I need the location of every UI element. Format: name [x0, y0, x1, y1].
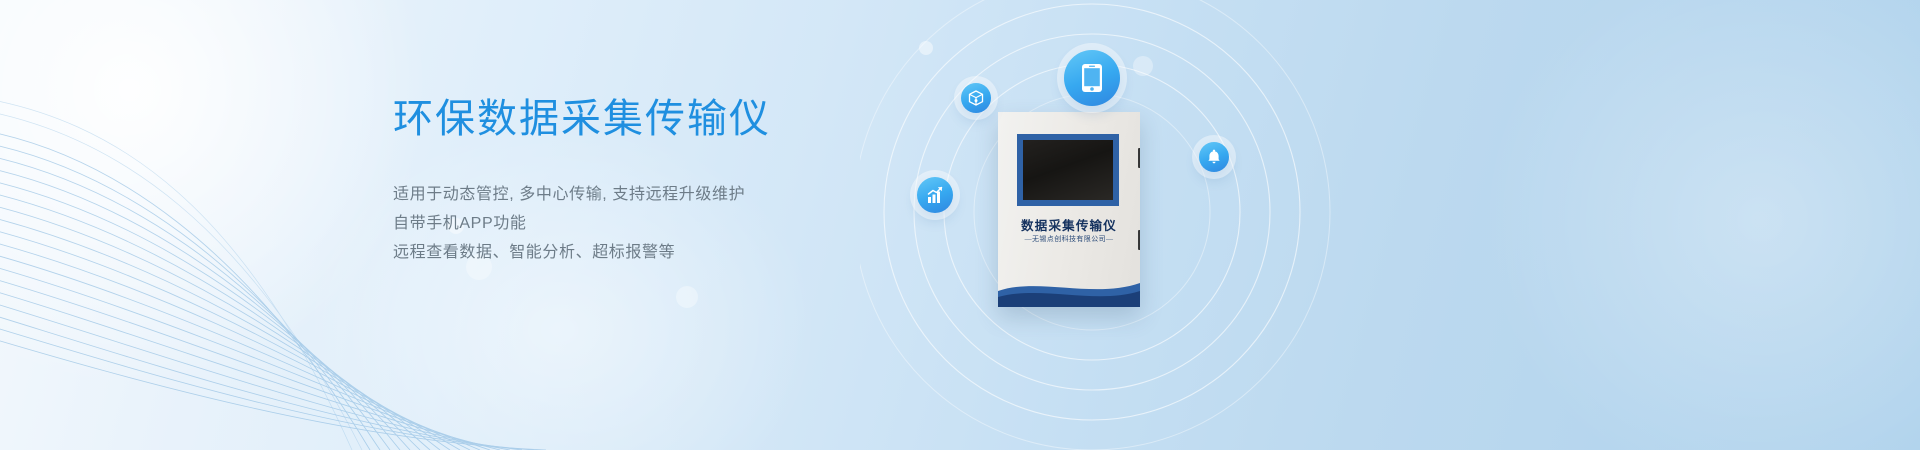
alarm-bell-icon[interactable] — [1199, 142, 1229, 172]
bar-chart-glyph — [925, 185, 945, 205]
bokeh-dot — [676, 286, 698, 308]
device-brand-title: 数据采集传输仪 — [998, 215, 1140, 234]
device-hinge-top — [1138, 148, 1140, 168]
device-wave-decoration — [998, 265, 1140, 307]
product-graphic-stage: 数据采集传输仪 —无锡点创科技有限公司— — [860, 0, 1520, 450]
product-banner: 环保数据采集传输仪 适用于动态管控, 多中心传输, 支持远程升级维护 自带手机A… — [0, 0, 1920, 450]
device-screen — [1023, 140, 1113, 200]
mobile-phone-glyph — [1080, 63, 1104, 93]
glow-right — [1480, 0, 1920, 450]
orbit-arcs-decoration — [860, 0, 1520, 450]
glow-top-left — [0, 0, 440, 400]
device-screen-frame — [1017, 134, 1119, 206]
mobile-phone-icon[interactable] — [1064, 50, 1120, 106]
device-company-name: —无锡点创科技有限公司— — [998, 234, 1140, 244]
cube-box-icon[interactable] — [961, 83, 991, 113]
alarm-bell-glyph — [1206, 149, 1222, 165]
bar-chart-icon[interactable] — [917, 177, 953, 213]
data-acquisition-device: 数据采集传输仪 —无锡点创科技有限公司— — [998, 112, 1140, 307]
cube-box-glyph — [968, 90, 984, 106]
device-hinge-bottom — [1138, 230, 1140, 250]
